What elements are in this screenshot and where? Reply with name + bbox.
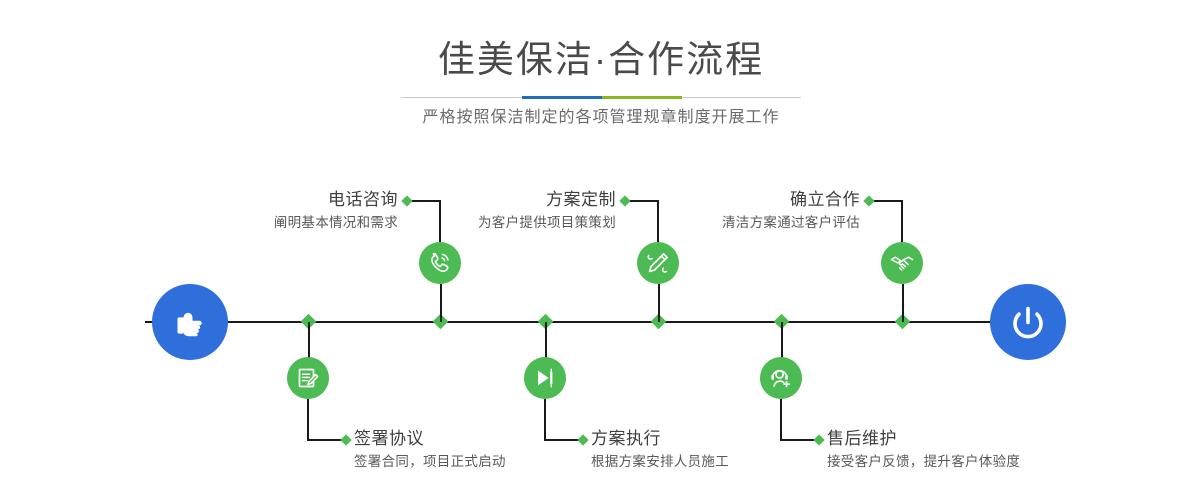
timeline-end-badge — [990, 284, 1066, 360]
page-title: 佳美保洁·合作流程 — [0, 38, 1202, 82]
sign-document-icon — [295, 365, 321, 391]
node-title-5: 售后维护 — [827, 428, 1187, 450]
divider-accent-green — [602, 96, 682, 99]
node-icon-badge-4[interactable] — [524, 357, 566, 399]
handshake-icon — [889, 250, 915, 276]
node-icon-badge-5[interactable] — [760, 357, 802, 399]
node-title-6: 确立合作 — [520, 189, 860, 211]
pencil-design-icon — [645, 250, 671, 276]
node-icon-badge-3[interactable] — [637, 242, 679, 284]
node-connector-v-4 — [544, 399, 546, 440]
node-icon-badge-1[interactable] — [419, 242, 461, 284]
timeline-axis — [145, 321, 1057, 323]
label-marker-2 — [340, 434, 351, 445]
node-desc-5: 接受客户反馈，提升客户体验度 — [827, 452, 1187, 472]
timeline-start-badge — [152, 284, 228, 360]
node-connector-v-6 — [901, 200, 903, 242]
node-stem-4 — [545, 322, 547, 358]
title-divider — [401, 96, 801, 99]
node-connector-h-4 — [544, 439, 580, 441]
node-connector-v-5 — [780, 399, 782, 440]
process-flow-infographic: 佳美保洁·合作流程 严格按照保洁制定的各项管理规章制度开展工作 — [0, 0, 1202, 502]
node-stem-6 — [902, 284, 904, 322]
node-connector-h-2 — [307, 439, 343, 441]
node-label-5: 售后维护 接受客户反馈，提升客户体验度 — [827, 428, 1187, 472]
node-stem-3 — [658, 284, 660, 322]
node-connector-h-6 — [871, 200, 902, 202]
pointing-hand-icon — [170, 302, 210, 342]
node-stem-5 — [781, 322, 783, 358]
label-marker-6 — [863, 195, 874, 206]
customer-support-icon — [768, 365, 794, 391]
phone-call-icon — [427, 250, 453, 276]
node-label-6: 确立合作 清洁方案通过客户评估 — [520, 189, 860, 233]
node-connector-h-5 — [780, 439, 816, 441]
power-icon — [1006, 300, 1050, 344]
play-execute-icon — [532, 365, 558, 391]
divider-accent-blue — [522, 96, 602, 99]
node-stem-2 — [308, 322, 310, 358]
node-desc-6: 清洁方案通过客户评估 — [520, 213, 860, 233]
page-subtitle: 严格按照保洁制定的各项管理规章制度开展工作 — [0, 106, 1202, 130]
node-connector-v-2 — [307, 399, 309, 440]
node-stem-1 — [440, 284, 442, 322]
node-icon-badge-2[interactable] — [287, 357, 329, 399]
node-icon-badge-6[interactable] — [881, 242, 923, 284]
